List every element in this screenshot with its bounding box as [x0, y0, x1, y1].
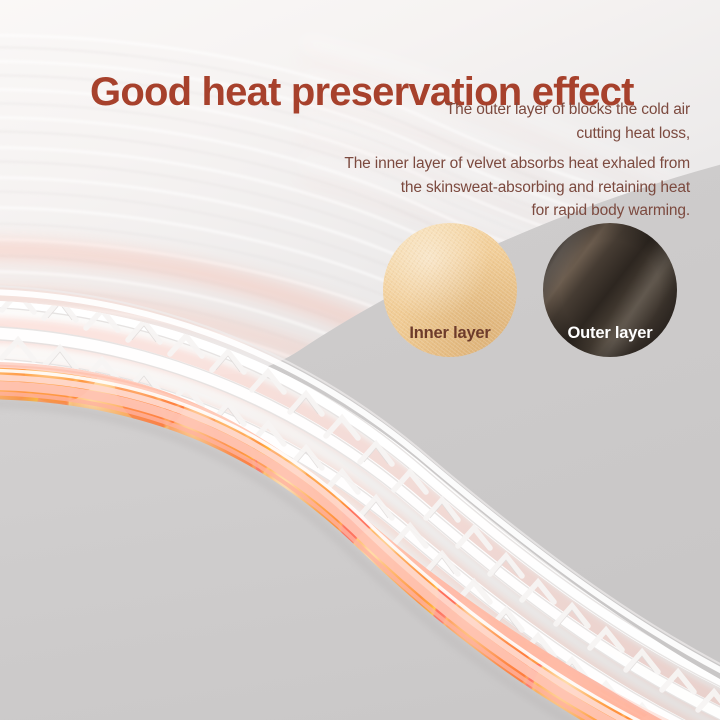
swatch-label-outer: Outer layer [543, 324, 677, 343]
paragraph-line: cutting heat loss, [260, 122, 690, 146]
paragraph-line: The inner layer of velvet absorbs heat e… [260, 152, 690, 176]
paragraph-line: The outer layer of blocks the cold air [260, 98, 690, 122]
swatch-outer-layer: Outer layer [543, 223, 677, 357]
paragraph-outer-layer: The outer layer of blocks the cold air c… [260, 98, 690, 145]
paragraph-line: for rapid body warming. [260, 199, 690, 223]
swatch-inner-layer: Inner layer [383, 223, 517, 357]
infographic-canvas: Good heat preservation effect The outer … [0, 0, 720, 720]
paragraph-line: the skinsweat-absorbing and retaining he… [260, 176, 690, 200]
swatch-label-inner: Inner layer [383, 324, 517, 343]
paragraph-inner-layer: The inner layer of velvet absorbs heat e… [260, 152, 690, 223]
